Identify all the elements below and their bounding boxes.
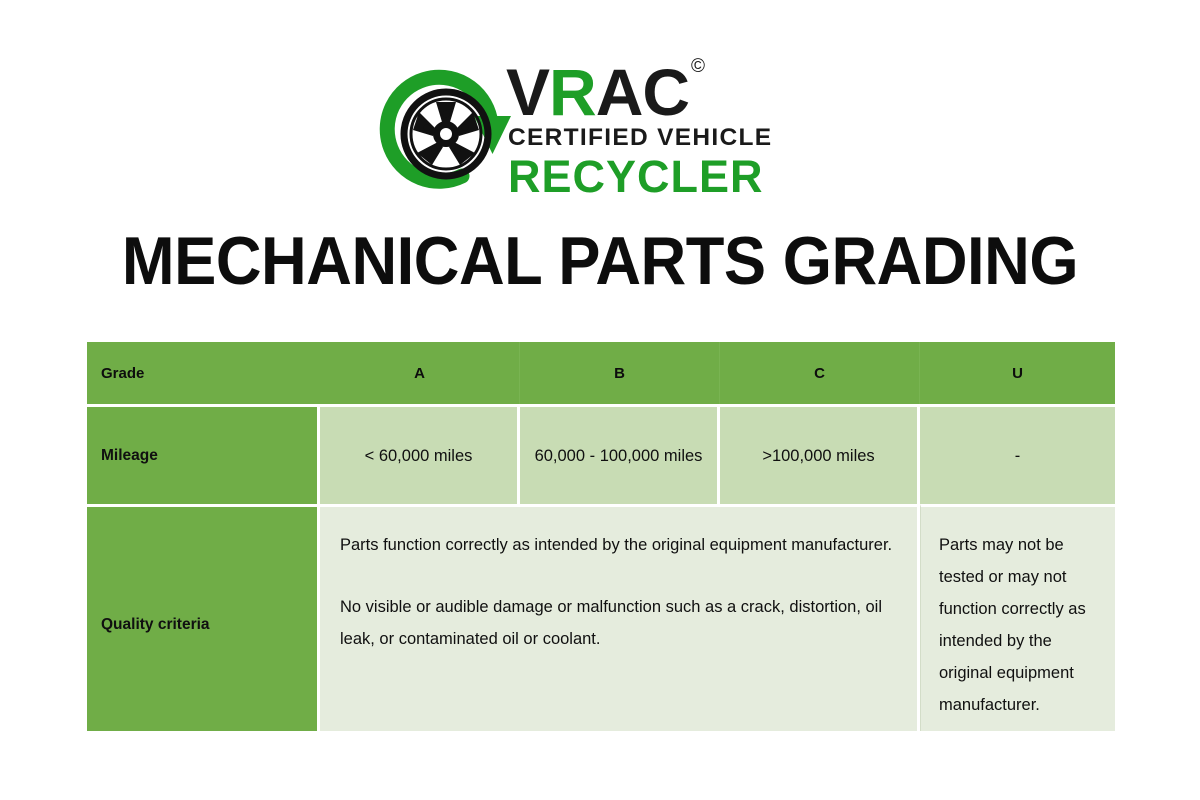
- mileage-cell-a: < 60,000 miles: [320, 404, 520, 504]
- vrac-logo: VRAC© CERTIFIED VEHICLE RECYCLER: [378, 56, 848, 202]
- logo-vrac-text: VRAC©: [506, 54, 702, 125]
- logo-wordmark: VRAC© CERTIFIED VEHICLE RECYCLER: [506, 56, 848, 202]
- mechanical-parts-grading-table: Grade A B C U Mileage < 60,000 miles 60,…: [87, 342, 1115, 731]
- mileage-cell-b: 60,000 - 100,000 miles: [520, 404, 720, 504]
- header-cell-c: C: [720, 342, 920, 404]
- quality-cell-u: Parts may not be tested or may not funct…: [920, 504, 1115, 731]
- grading-chart-page: VRAC© CERTIFIED VEHICLE RECYCLER MECHANI…: [0, 0, 1200, 800]
- header-cell-a: A: [320, 342, 520, 404]
- table-header-row: Grade A B C U: [87, 342, 1115, 404]
- quality-paragraph-1: Parts function correctly as intended by …: [340, 529, 893, 561]
- logo-recycler-text: RECYCLER: [508, 153, 764, 201]
- header-cell-grade: Grade: [87, 342, 320, 404]
- page-title: MECHANICAL PARTS GRADING: [42, 222, 1158, 300]
- header-cell-u: U: [920, 342, 1115, 404]
- copyright-icon: ©: [691, 56, 704, 77]
- recycling-wheel-icon: [378, 62, 514, 198]
- mileage-cell-c: >100,000 miles: [720, 404, 920, 504]
- quality-paragraph-2: No visible or audible damage or malfunct…: [340, 591, 893, 655]
- logo-letters-ac: AC: [596, 55, 689, 129]
- row-label-mileage: Mileage: [87, 404, 320, 504]
- quality-cell-abc: Parts function correctly as intended by …: [320, 504, 920, 731]
- header-cell-b: B: [520, 342, 720, 404]
- logo-letter-v: V: [506, 55, 549, 129]
- mileage-cell-u: -: [920, 404, 1115, 504]
- row-label-quality-criteria: Quality criteria: [87, 504, 320, 731]
- logo-tagline: CERTIFIED VEHICLE: [508, 125, 772, 151]
- table-row-mileage: Mileage < 60,000 miles 60,000 - 100,000 …: [87, 404, 1115, 504]
- table-row-quality-criteria: Quality criteria Parts function correctl…: [87, 504, 1115, 731]
- logo-letter-r: R: [549, 55, 596, 129]
